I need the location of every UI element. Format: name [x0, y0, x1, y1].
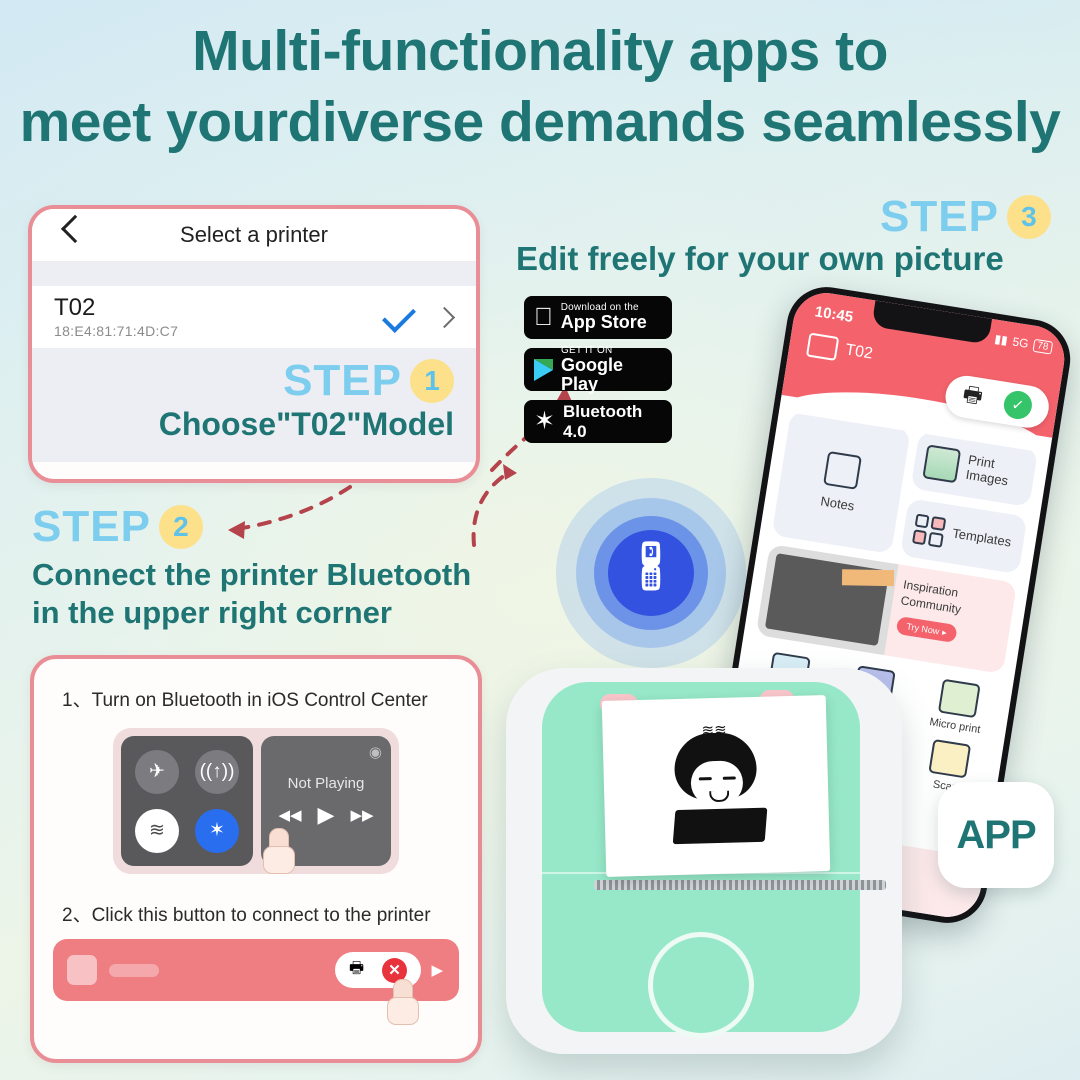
instruction-item-1: 1、Turn on Bluetooth in iOS Control Cente… — [62, 685, 478, 712]
micro-print-icon — [938, 679, 981, 719]
tile-notes-label: Notes — [819, 494, 855, 514]
expand-arrow-icon[interactable]: ▶ — [431, 961, 443, 979]
step2-instructions-card: 1、Turn on Bluetooth in iOS Control Cente… — [30, 655, 482, 1063]
check-icon — [382, 299, 416, 333]
bluetooth-version-label: Bluetooth 4.0 — [563, 402, 662, 442]
app-store-big: App Store — [561, 313, 647, 332]
printer-icon[interactable]: 🖶 — [960, 379, 985, 417]
placeholder-thumb — [67, 955, 97, 985]
step2-badge-number: 2 — [159, 505, 203, 549]
image-icon — [922, 444, 961, 483]
media-controls: ◀◀ ▶ ▶▶ — [278, 802, 373, 828]
step3-badge-word: STEP — [880, 192, 999, 242]
step2-caption: Connect the printer Bluetooth in the upp… — [32, 556, 552, 632]
app-store-text: Download on the App Store — [561, 303, 647, 332]
placeholder-line — [109, 964, 159, 977]
status-network: 5G — [1012, 334, 1030, 350]
page-title-line-1: Multi-functionality apps to — [0, 18, 1080, 85]
signal-icon: ▮▮ — [994, 332, 1009, 348]
step2-caption-line-2: in the upper right corner — [32, 594, 552, 632]
connect-bar: 🖶 ✕ ▶ — [53, 939, 459, 1001]
app-store-badge[interactable]:  Download on the App Store — [524, 296, 672, 339]
fast-forward-icon[interactable]: ▶▶ — [350, 806, 373, 824]
step3-badge: STEP 3 — [880, 192, 1051, 242]
paper-tear-slot — [594, 880, 886, 890]
printer-icon[interactable]: 🖶 — [349, 957, 364, 984]
phone-notch — [871, 300, 992, 344]
poster-canvas: Multi-functionality apps to meet yourdiv… — [0, 0, 1080, 1080]
wifi-icon[interactable]: ≋ — [135, 809, 179, 853]
feature-micro-print[interactable]: Micro print — [913, 675, 1002, 738]
step2-badge-word: STEP — [32, 502, 151, 552]
printer-screen-header: Select a printer — [32, 209, 476, 262]
thermal-printer-product: ≋≋ — [506, 660, 906, 1060]
step3-badge-number: 3 — [1007, 195, 1051, 239]
list-separator — [32, 262, 476, 286]
status-battery: 78 — [1032, 338, 1053, 354]
status-right: ▮▮ 5G 78 — [994, 332, 1054, 355]
bluetooth-version-badge: ✶ Bluetooth 4.0 — [524, 400, 672, 443]
templates-icon — [912, 513, 946, 547]
play-icon[interactable]: ▶ — [318, 802, 335, 828]
instruction-item-2: 2、Click this button to connect to the pr… — [62, 900, 478, 927]
airplane-icon[interactable]: ✈ — [135, 750, 179, 794]
step1-overlay: STEP 1 Choose"T02"Model — [32, 348, 476, 462]
feature-micro-print-label: Micro print — [929, 716, 982, 736]
printer-mac-address: 18:E4:81:71:4D:C7 — [54, 323, 178, 339]
step1-caption: Choose"T02"Model — [159, 406, 454, 443]
tile-templates-label: Templates — [951, 526, 1012, 550]
google-play-text: GET IT ON Google Play — [561, 346, 662, 393]
bluetooth-icon: 🖁 — [639, 534, 662, 612]
tap-hand-icon — [387, 979, 417, 1023]
tile-print-images-label: Print Images — [965, 453, 1026, 492]
doodle-eye-left — [699, 777, 712, 780]
app-badge-label: APP — [956, 813, 1035, 858]
page-title-line-2b: diverse demands seamlessly — [288, 90, 1061, 154]
scan-icon — [928, 739, 971, 779]
printed-doodle-illustration: ≋≋ — [649, 719, 782, 852]
doodle-laptop — [673, 808, 768, 844]
printer-device-icon — [806, 333, 839, 361]
connected-device[interactable]: T02 — [806, 333, 875, 367]
step2-badge: STEP 2 — [32, 502, 552, 552]
tile-notes[interactable]: Notes — [772, 411, 911, 554]
banner-cta-label: Try Now — [906, 622, 940, 637]
google-play-icon — [534, 359, 553, 381]
check-circle-icon: ✓ — [1002, 389, 1034, 421]
printer-screen-title: Select a printer — [32, 222, 476, 248]
printer-list-item[interactable]: T02 18:E4:81:71:4D:C7 — [32, 286, 476, 348]
printer-name: T02 — [54, 295, 178, 320]
page-title-line-2: meet yourdiverse demands seamlessly — [0, 89, 1080, 156]
step1-badge: STEP 1 — [283, 356, 454, 406]
chevron-right-icon[interactable] — [434, 307, 455, 328]
connectivity-group: ✈ ((↑)) ≋ ✶ — [121, 736, 253, 866]
store-badges:  Download on the App Store GET IT ON Go… — [524, 296, 672, 443]
page-title: Multi-functionality apps to meet yourdiv… — [0, 18, 1080, 157]
cellular-icon[interactable]: ((↑)) — [195, 750, 239, 794]
step1-printer-card: Select a printer T02 18:E4:81:71:4D:C7 S… — [28, 205, 480, 483]
tile-templates[interactable]: Templates — [900, 498, 1028, 574]
airplay-icon[interactable]: ◉ — [369, 743, 382, 761]
notes-icon — [823, 451, 862, 490]
bluetooth-icon[interactable]: ✶ — [195, 809, 239, 853]
printed-paper: ≋≋ — [602, 695, 831, 877]
printer-item-text: T02 18:E4:81:71:4D:C7 — [54, 295, 178, 339]
now-playing-label: Not Playing — [288, 775, 365, 792]
step2-caption-line-1: Connect the printer Bluetooth — [32, 556, 552, 594]
banner-sticker — [842, 569, 894, 586]
doodle-eye-right — [723, 776, 736, 779]
step2-text-block: STEP 2 Connect the printer Bluetooth in … — [32, 502, 552, 632]
rewind-icon[interactable]: ◀◀ — [278, 806, 301, 824]
bluetooth-pulse-graphic: 🖁 — [556, 478, 746, 668]
ios-control-center: ✈ ((↑)) ≋ ✶ ◉ Not Playing ◀◀ ▶ ▶▶ — [113, 728, 399, 874]
app-badge: APP — [938, 782, 1054, 888]
google-play-badge[interactable]: GET IT ON Google Play — [524, 348, 672, 391]
step1-badge-number: 1 — [410, 359, 454, 403]
step3-caption: Edit freely for your own picture — [516, 240, 1004, 278]
step1-badge-word: STEP — [283, 356, 402, 406]
printer-power-button[interactable] — [648, 932, 754, 1038]
tap-hand-icon — [263, 828, 293, 872]
banner-text: Inspiration Community Try Now▸ — [884, 564, 1017, 674]
bluetooth-icon: ✶ — [534, 409, 555, 434]
banner-thumbnail — [756, 544, 899, 655]
banner-cta-button[interactable]: Try Now▸ — [896, 616, 958, 643]
status-time: 10:45 — [814, 303, 855, 326]
apple-icon:  — [534, 305, 553, 330]
page-title-line-2a: meet your — [20, 90, 288, 154]
device-label: T02 — [844, 341, 874, 363]
google-play-big: Google Play — [561, 356, 662, 393]
banner-photo — [765, 553, 889, 646]
